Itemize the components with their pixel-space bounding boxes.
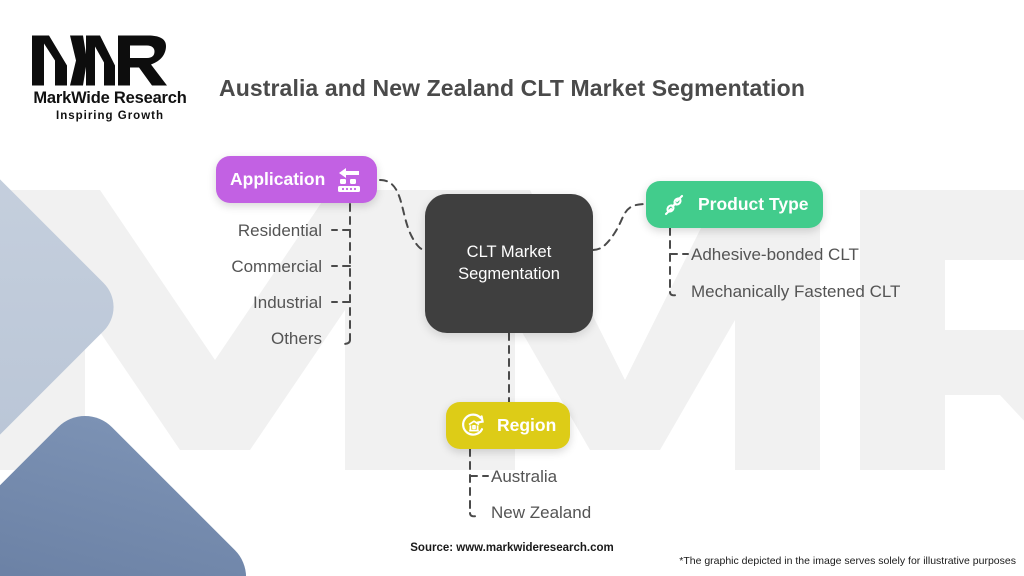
disclaimer-note: *The graphic depicted in the image serve… <box>679 555 1016 567</box>
center-node-label: CLT Market Segmentation <box>458 242 560 285</box>
globe-bank-icon <box>460 412 488 440</box>
branch-badge-region[interactable]: Region <box>446 402 570 449</box>
source-note: Source: www.markwideresearch.com <box>0 542 1024 554</box>
leaf-application-2[interactable]: Industrial <box>130 293 322 313</box>
segmentation-diagram: CLT Market Segmentation Application <box>0 0 1024 576</box>
branch-label-product-type: Product Type <box>698 194 809 215</box>
leaf-product-type-1[interactable]: Mechanically Fastened CLT <box>691 282 900 302</box>
leaf-application-0[interactable]: Residential <box>130 221 322 241</box>
branch-label-region: Region <box>497 415 556 436</box>
leaf-region-0[interactable]: Australia <box>491 467 557 487</box>
branch-badge-product-type[interactable]: Product Type <box>646 181 823 228</box>
leaf-region-1[interactable]: New Zealand <box>491 503 591 523</box>
sitemap-arrow-icon <box>335 166 363 194</box>
branch-badge-application[interactable]: Application <box>216 156 377 203</box>
leaf-product-type-0[interactable]: Adhesive-bonded CLT <box>691 245 859 265</box>
molecule-link-icon <box>660 191 688 219</box>
leaf-application-1[interactable]: Commercial <box>130 257 322 277</box>
infographic-canvas: MarkWide Research Inspiring Growth Austr… <box>0 0 1024 576</box>
center-node[interactable]: CLT Market Segmentation <box>425 194 593 333</box>
leaf-application-3[interactable]: Others <box>130 329 322 349</box>
branch-label-application: Application <box>230 169 325 190</box>
